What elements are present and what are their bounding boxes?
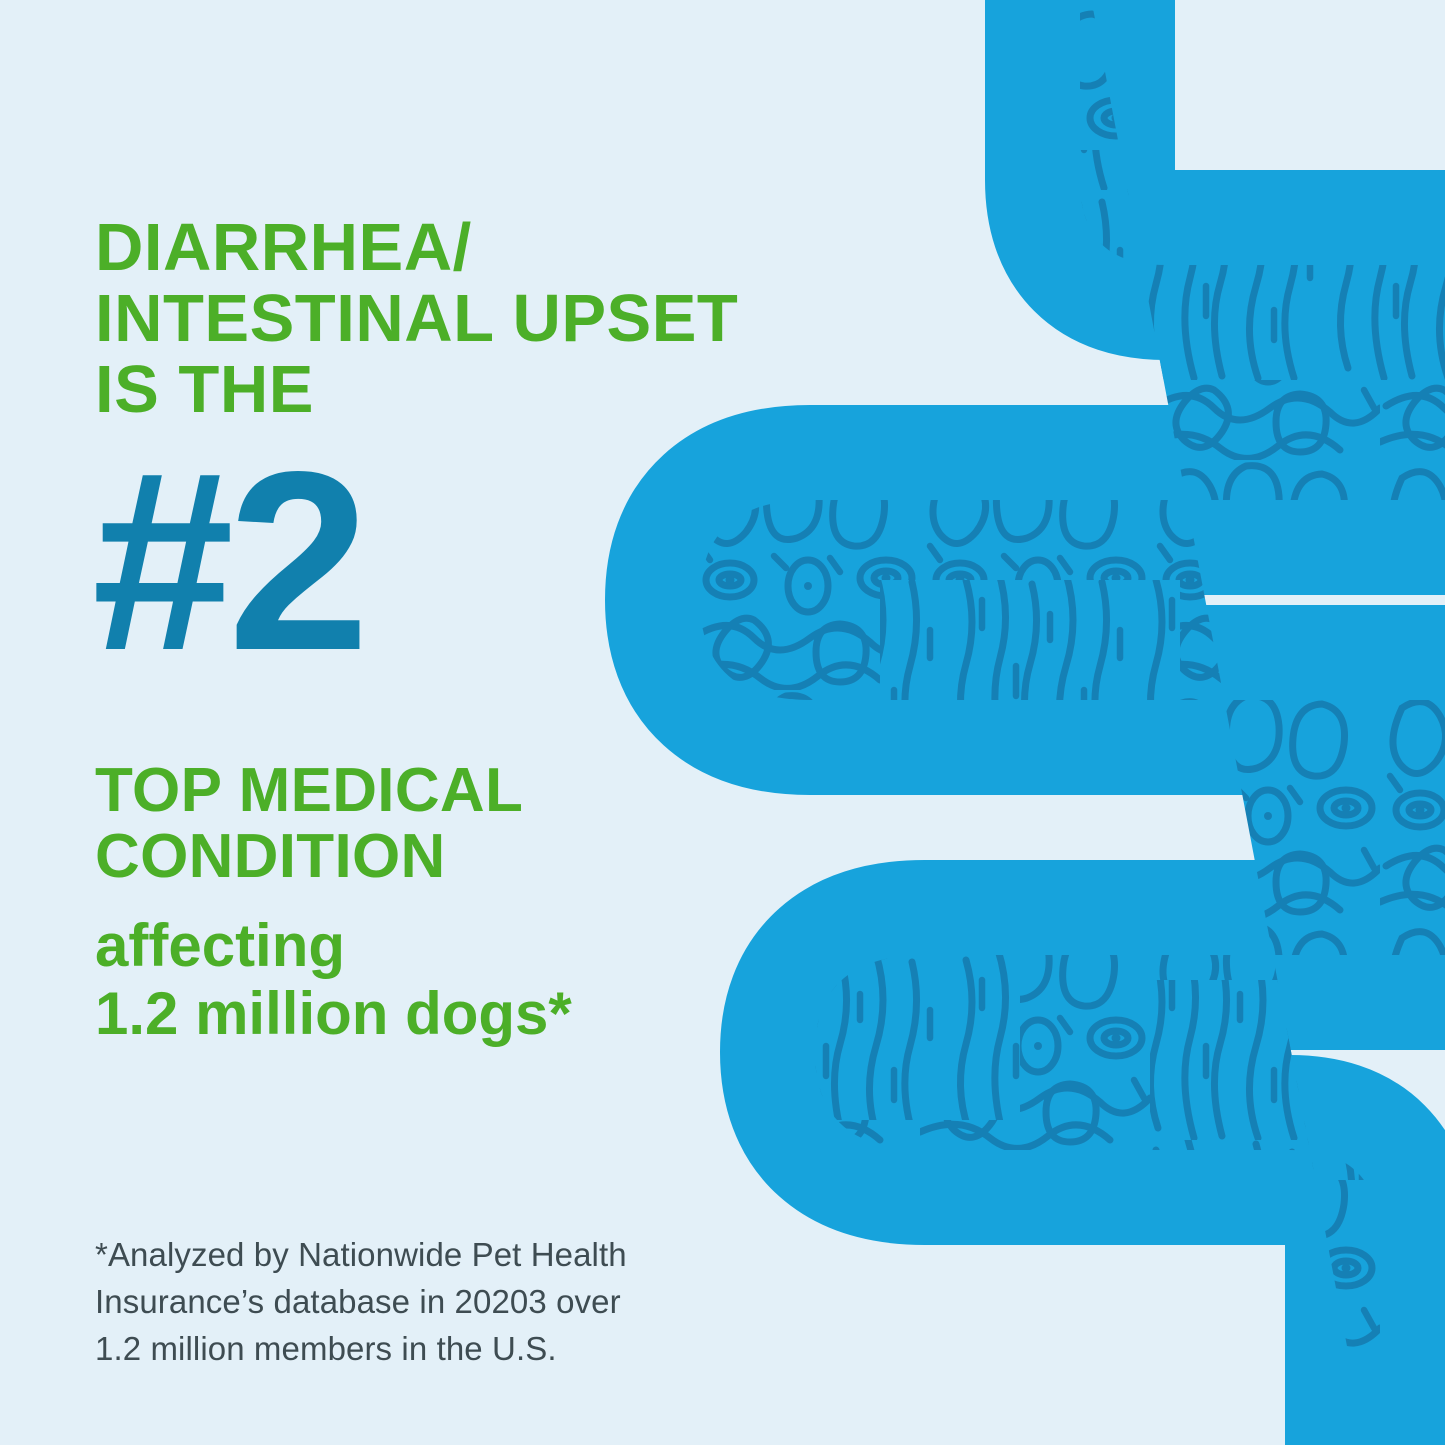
intestine-band: [700, 0, 1445, 1445]
subheadline-detail: affecting 1.2 million dogs*: [95, 912, 785, 1048]
headline: DIARRHEA/ INTESTINAL UPSET IS THE: [95, 212, 785, 425]
subheadline: TOP MEDICAL CONDITION: [95, 758, 785, 891]
infographic-canvas: DIARRHEA/ INTESTINAL UPSET IS THE #2 TOP…: [0, 0, 1445, 1445]
footnote-source: *Analyzed by Nationwide Pet Health Insur…: [95, 1232, 795, 1373]
rank-number: #2: [92, 447, 364, 677]
text-column: DIARRHEA/ INTESTINAL UPSET IS THE #2 TOP…: [95, 0, 795, 1445]
